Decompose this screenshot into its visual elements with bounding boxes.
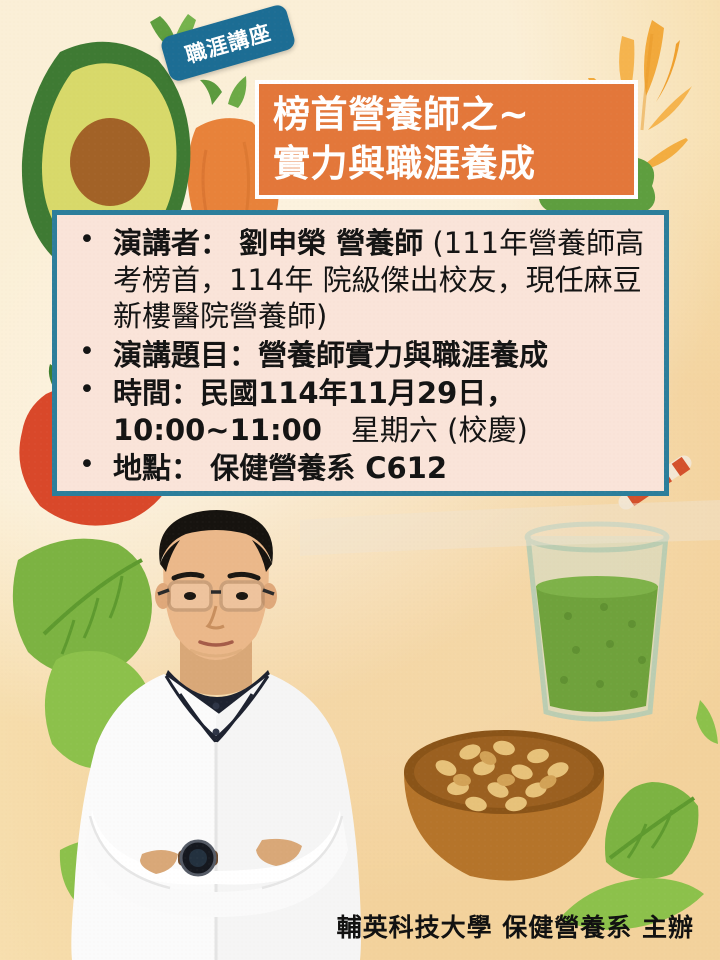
list-item-venue: 地點： 保健營養系 C612 [71,450,654,487]
event-info-list: 演講者： 劉申榮 營養師 (111年營養師高考榜首，114年 院級傑出校友，現任… [71,225,654,487]
venue-label: 地點： 保健營養系 C612 [113,451,447,485]
leaf-small-bottom-right-decoration [696,700,718,744]
topic-label: 演講題目：營養師實力與職涯養成 [113,338,548,372]
poster-root: 職涯講座 榜首營養師之~ 實力與職涯養成 演講者： 劉申榮 營養師 (111年營… [0,0,720,960]
speaker-photo [30,510,400,960]
list-item-topic: 演講題目：營養師實力與職涯養成 [71,337,654,374]
event-info-box: 演講者： 劉申榮 營養師 (111年營養師高考榜首，114年 院級傑出校友，現任… [52,210,669,496]
footer: 輔英科技大學 保健營養系 主辦 [0,908,694,944]
organizer-text: 輔英科技大學 保健營養系 主辦 [337,913,694,942]
list-item-speaker: 演講者： 劉申榮 營養師 (111年營養師高考榜首，114年 院級傑出校友，現任… [71,225,654,335]
title-line-1: 榜首營養師之~ [273,91,634,139]
speaker-label: 演講者： 劉申榮 營養師 [113,226,423,260]
title-banner: 榜首營養師之~ 實力與職涯養成 [255,80,638,199]
time-extra: 星期六 (校慶) [322,413,528,447]
list-item-time: 時間：民國114年11月29日，10:00~11:00 星期六 (校慶) [71,375,654,448]
title-line-2: 實力與職涯養成 [273,140,634,188]
bowl-of-beans-decoration [404,730,604,881]
smoothie-glass-decoration [527,463,686,719]
